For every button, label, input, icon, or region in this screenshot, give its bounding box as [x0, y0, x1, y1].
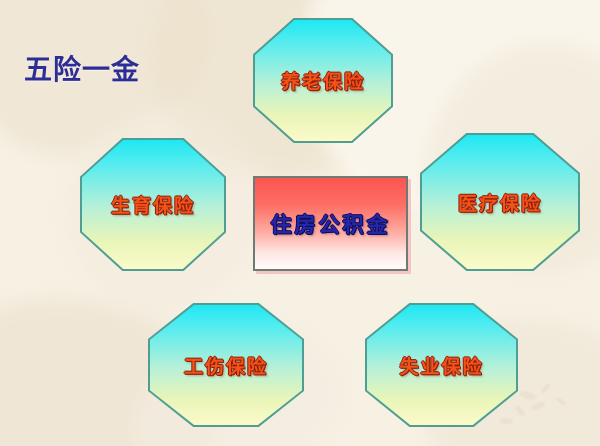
node-pension-fill: 养老保险 — [255, 20, 391, 141]
node-medical[interactable]: 医疗保险 — [420, 133, 580, 271]
center-housing-fund[interactable]: 住房公积金 — [253, 176, 408, 271]
node-medical-fill: 医疗保险 — [422, 135, 578, 269]
slide-title: 五险一金 — [24, 48, 140, 88]
center-housing-fund-label: 住房公积金 — [271, 209, 391, 239]
node-maternity-label: 生育保险 — [111, 191, 195, 218]
slide-canvas: 五险一金 养老保险 生育保险 医疗保险 工伤保险 失业保险 住房公积金 — [0, 0, 600, 446]
node-unemployment-fill: 失业保险 — [367, 305, 516, 425]
node-work-injury-label: 工伤保险 — [184, 352, 268, 379]
node-maternity[interactable]: 生育保险 — [80, 138, 226, 271]
node-maternity-fill: 生育保险 — [82, 140, 224, 269]
node-work-injury-fill: 工伤保险 — [150, 305, 302, 425]
node-unemployment[interactable]: 失业保险 — [365, 303, 518, 427]
node-pension-label: 养老保险 — [281, 67, 365, 94]
node-medical-label: 医疗保险 — [458, 189, 542, 216]
node-pension[interactable]: 养老保险 — [253, 18, 393, 143]
node-work-injury[interactable]: 工伤保险 — [148, 303, 304, 427]
node-unemployment-label: 失业保险 — [399, 352, 483, 379]
